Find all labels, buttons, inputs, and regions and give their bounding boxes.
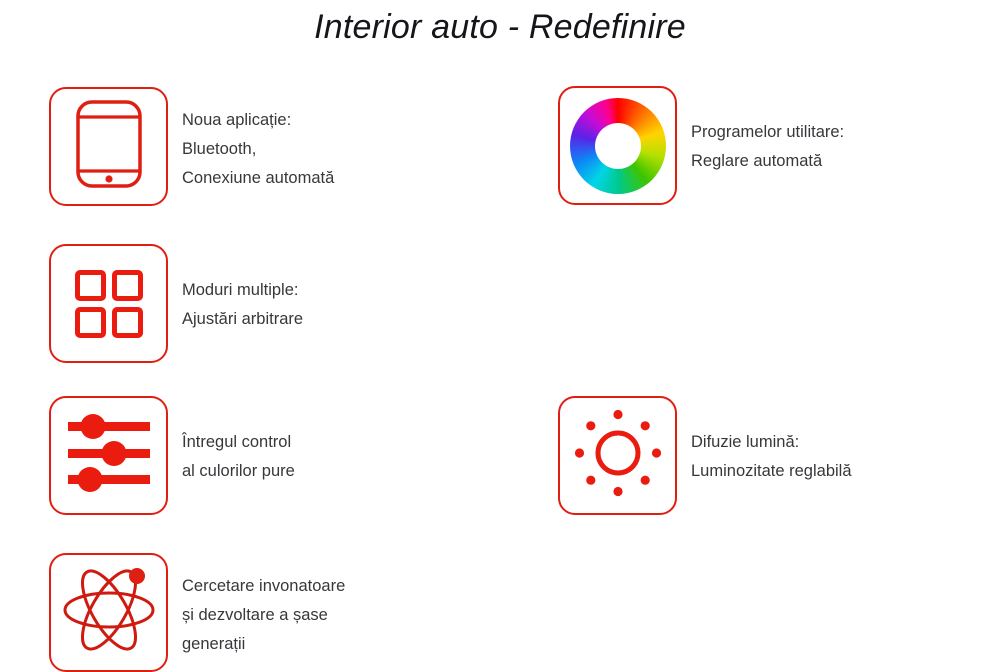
page-title: Interior auto - Redefinire <box>0 8 1000 47</box>
feature-line: Reglare automată <box>691 147 844 176</box>
feature-line: Bluetooth, <box>182 135 334 164</box>
icon-box-modes <box>49 244 168 363</box>
feature-line: Întregul control <box>182 428 295 457</box>
grid-square <box>112 307 143 338</box>
feature-text-light: Difuzie lumină: Luminozitate reglabilă <box>691 396 852 486</box>
icon-box-control <box>49 396 168 515</box>
grid-square <box>75 307 106 338</box>
feature-text-control: Întregul control al culorilor pure <box>182 396 295 486</box>
feature-line: Difuzie lumină: <box>691 428 852 457</box>
feature-line: Luminozitate reglabilă <box>691 457 852 486</box>
feature-text-app: Noua aplicație: Bluetooth, Conexiune aut… <box>182 87 334 193</box>
feature-item-light: Difuzie lumină: Luminozitate reglabilă <box>558 396 852 515</box>
icon-box-colors <box>558 86 677 205</box>
grid-square <box>75 270 106 301</box>
grid-squares-icon <box>75 270 143 338</box>
feature-line: și dezvoltare a șase <box>182 601 345 630</box>
icon-box-research <box>49 553 168 672</box>
feature-line: Ajustări arbitrare <box>182 305 303 334</box>
feature-text-colors: Programelor utilitare: Reglare automată <box>691 86 844 176</box>
feature-line: Programelor utilitare: <box>691 118 844 147</box>
feature-line: Conexiune automată <box>182 164 334 193</box>
sun-brightness-icon <box>572 407 664 504</box>
feature-text-research: Cercetare invonatoare și dezvoltare a șa… <box>182 553 345 659</box>
feature-item-colors: Programelor utilitare: Reglare automată <box>558 86 844 205</box>
icon-box-light <box>558 396 677 515</box>
feature-item-app: Noua aplicație: Bluetooth, Conexiune aut… <box>49 87 334 206</box>
feature-line: Noua aplicație: <box>182 106 334 135</box>
color-wheel-icon <box>570 98 666 194</box>
feature-line: al culorilor pure <box>182 457 295 486</box>
feature-item-control: Întregul control al culorilor pure <box>49 396 295 515</box>
sliders-icon <box>66 413 152 498</box>
feature-line: generații <box>182 630 345 659</box>
feature-line: Moduri multiple: <box>182 276 303 305</box>
smartphone-icon <box>75 99 143 194</box>
atom-icon <box>59 560 159 665</box>
feature-text-modes: Moduri multiple: Ajustări arbitrare <box>182 244 303 334</box>
icon-box-app <box>49 87 168 206</box>
feature-item-research: Cercetare invonatoare și dezvoltare a șa… <box>49 553 345 672</box>
feature-item-modes: Moduri multiple: Ajustări arbitrare <box>49 244 303 363</box>
grid-square <box>112 270 143 301</box>
feature-line: Cercetare invonatoare <box>182 572 345 601</box>
